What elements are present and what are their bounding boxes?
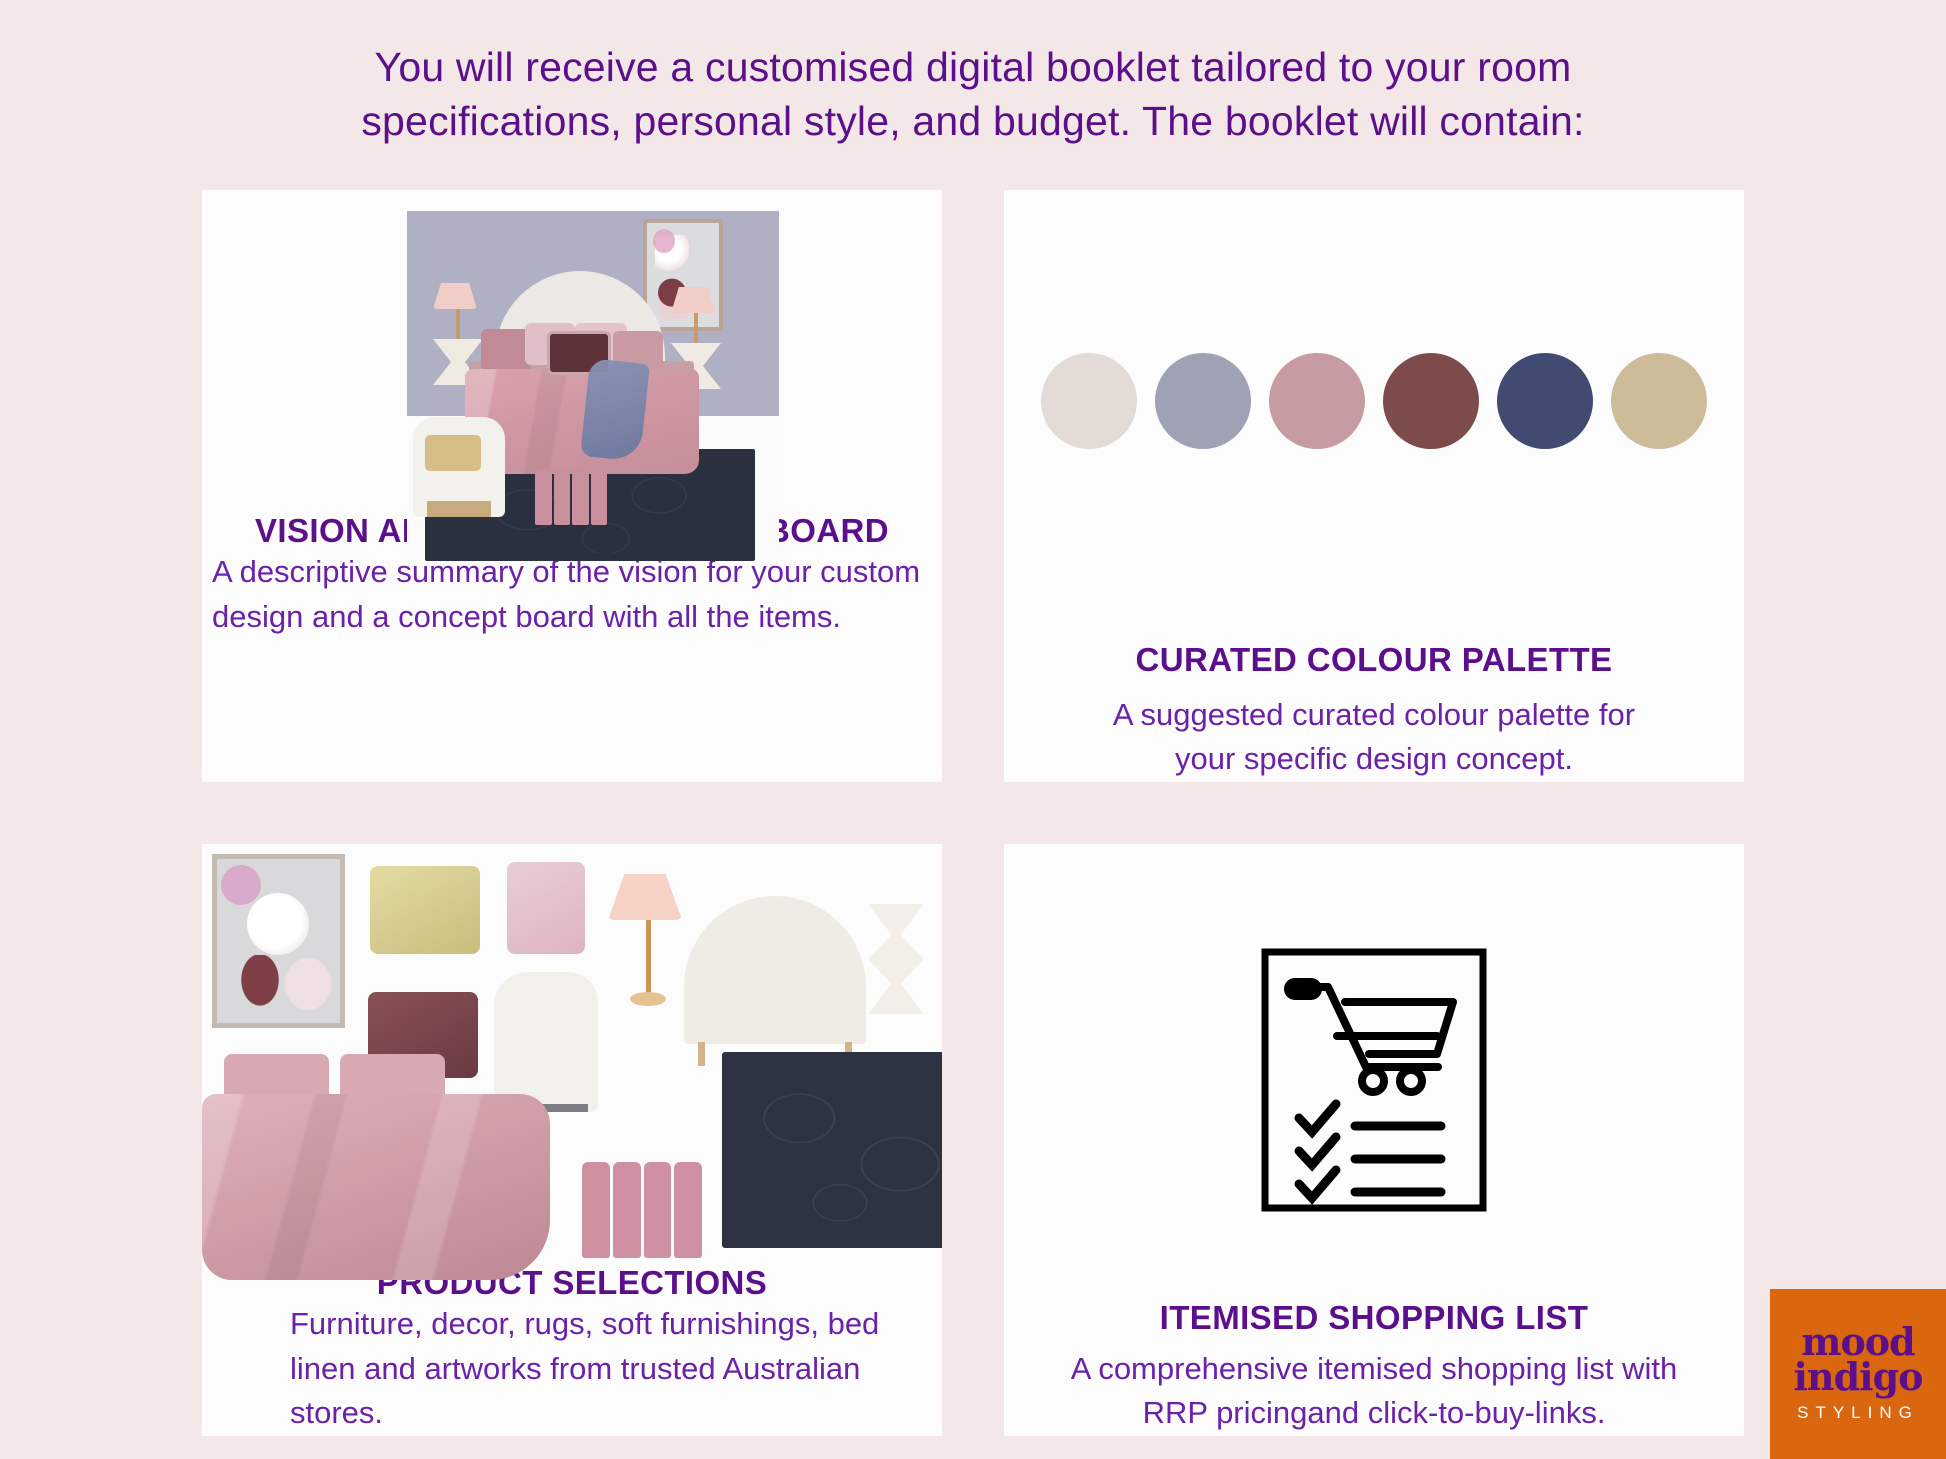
card-body: Furniture, decor, rugs, soft furnishings… [202, 1302, 942, 1436]
terrazzo-side-table [868, 904, 924, 1014]
logo-line-styling: STYLING [1797, 1403, 1919, 1423]
card-title: CURATED COLOUR PALETTE [1004, 641, 1744, 679]
product-collage-image [202, 844, 942, 1262]
gold-cushion [370, 866, 480, 954]
bedroom-concept-board-image [407, 211, 779, 561]
card-body: A descriptive summary of the vision for … [202, 550, 942, 639]
colour-swatch-circles [1004, 190, 1744, 641]
page-headline: You will receive a customised digital bo… [0, 40, 1946, 148]
shopping-list-icon [1004, 844, 1744, 1299]
swatch-navy-indigo [1497, 353, 1593, 449]
swatch-soft-blush-white [1041, 353, 1137, 449]
bed-linen-set [202, 1054, 562, 1280]
card-body: A suggested curated colour palette for y… [1004, 679, 1744, 782]
swatch-dusty-rose [1269, 353, 1365, 449]
pink-ottoman-bench [582, 1162, 702, 1258]
swatch-muted-periwinkle-grey [1155, 353, 1251, 449]
lamp-stem [456, 309, 460, 341]
logo-line-indigo: indigo [1794, 1360, 1923, 1395]
swatch-deep-mulberry [1383, 353, 1479, 449]
card-curated-colour-palette: CURATED COLOUR PALETTE A suggested curat… [1004, 190, 1744, 782]
pillow [481, 329, 531, 371]
brand-logo[interactable]: mood indigo STYLING [1770, 1289, 1946, 1459]
table-lamp [608, 874, 688, 1014]
floral-artwork [212, 854, 345, 1028]
arched-headboard [684, 896, 866, 1044]
feature-card-grid: VISION AND VISUAL CONCEPT BOARD A descri… [202, 190, 1744, 1360]
swatch-warm-sand [1611, 353, 1707, 449]
gold-cushion [425, 435, 481, 471]
floral-accent [653, 229, 675, 253]
card-itemised-shopping-list: ITEMISED SHOPPING LIST A comprehensive i… [1004, 844, 1744, 1436]
pink-cushion [507, 862, 585, 954]
card-vision-concept-board: VISION AND VISUAL CONCEPT BOARD A descri… [202, 190, 942, 782]
pink-ottoman-bench [535, 469, 607, 525]
lamp-shade [671, 287, 715, 313]
card-title: ITEMISED SHOPPING LIST [1004, 1299, 1744, 1337]
lamp-shade [433, 283, 477, 309]
card-product-selections: PRODUCT SELECTIONS Furniture, decor, rug… [202, 844, 942, 1436]
navy-rug [722, 1052, 942, 1248]
card-body: A comprehensive itemised shopping list w… [1004, 1337, 1744, 1436]
lamp-stem [694, 313, 698, 345]
